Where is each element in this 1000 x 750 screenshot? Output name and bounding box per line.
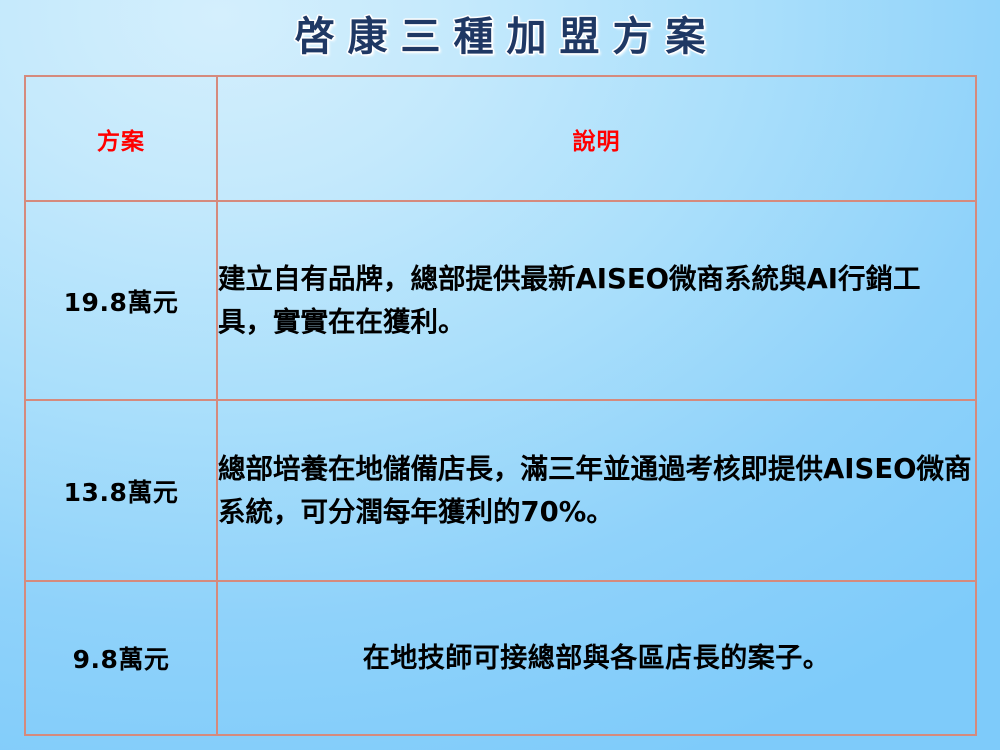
- column-header-plan: 方案: [25, 76, 217, 201]
- table-header-row: 方案 說明: [25, 76, 976, 201]
- plan-description-tier-1: 建立自有品牌，總部提供最新AISEO微商系統與AI行銷工具，實實在在獲利。: [217, 201, 976, 400]
- plan-price-tier-2: 13.8萬元: [25, 400, 217, 581]
- plan-price-tier-1: 19.8萬元: [25, 201, 217, 400]
- column-header-description: 說明: [217, 76, 976, 201]
- plan-price-tier-3: 9.8萬元: [25, 581, 217, 735]
- franchise-plan-table: 方案 說明 19.8萬元 建立自有品牌，總部提供最新AISEO微商系統與AI行銷…: [24, 75, 977, 736]
- table-row: 19.8萬元 建立自有品牌，總部提供最新AISEO微商系統與AI行銷工具，實實在…: [25, 201, 976, 400]
- table-row: 13.8萬元 總部培養在地儲備店長，滿三年並通過考核即提供AISEO微商系統，可…: [25, 400, 976, 581]
- table-row: 9.8萬元 在地技師可接總部與各區店長的案子。: [25, 581, 976, 735]
- plan-description-tier-3: 在地技師可接總部與各區店長的案子。: [217, 581, 976, 735]
- slide-canvas: 啓康三種加盟方案 方案 說明 19.8萬元 建立自有品牌，總部提供最新AISEO…: [0, 0, 1000, 750]
- plan-description-tier-2: 總部培養在地儲備店長，滿三年並通過考核即提供AISEO微商系統，可分潤每年獲利的…: [217, 400, 976, 581]
- page-title: 啓康三種加盟方案: [0, 14, 1000, 60]
- plan-description-tier-3-text: 在地技師可接總部與各區店長的案子。: [218, 637, 975, 680]
- plan-description-tier-2-text: 總部培養在地儲備店長，滿三年並通過考核即提供AISEO微商系統，可分潤每年獲利的…: [218, 448, 975, 534]
- plan-description-tier-1-text: 建立自有品牌，總部提供最新AISEO微商系統與AI行銷工具，實實在在獲利。: [218, 258, 975, 344]
